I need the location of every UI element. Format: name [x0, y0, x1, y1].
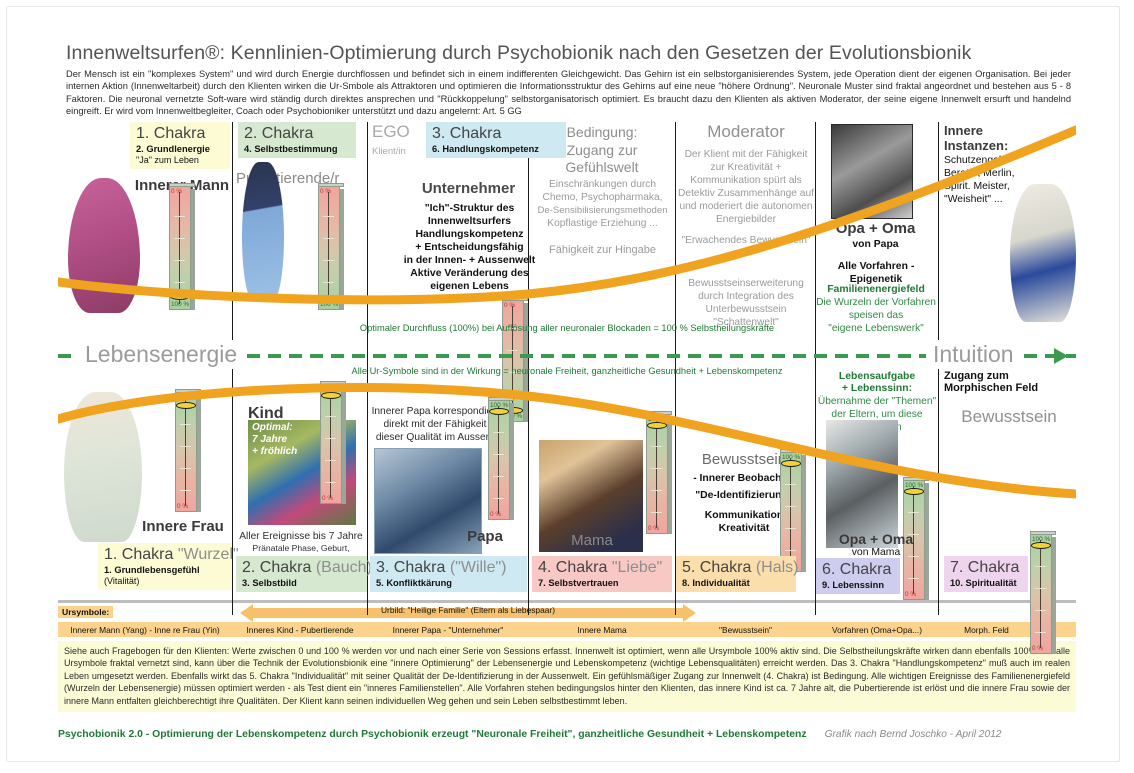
bottom-col3-lines: Innerer Papa korrespondiert direkt mit d…	[370, 405, 500, 444]
line: De-Sensibilisierungsmethoden	[530, 204, 675, 217]
bottom-chakra6-sub: 9. Lebenssinn	[822, 579, 894, 591]
gauge-tick	[325, 438, 336, 439]
gauge-tick	[908, 578, 919, 579]
gauge-body	[320, 384, 342, 504]
gauge-tick	[1035, 588, 1046, 589]
footer-bar: Psychobionik 2.0 - Optimierung der Leben…	[58, 724, 1076, 742]
bottom-chakra1-quote: "Wurzel"	[178, 546, 239, 563]
gauge-tick	[493, 432, 504, 433]
top-chakra1-title: 1. Chakra	[136, 124, 224, 143]
bottom-chakra6-plate: 6. Chakra 9. Lebenssinn	[816, 558, 900, 594]
bottom-col7-gauge: 100 % 0 %	[1030, 534, 1056, 654]
gauge-tick	[785, 528, 796, 529]
gauge-marker-ring[interactable]	[781, 460, 801, 467]
bottom-chakra2-title: 2. Chakra (Bauch)	[242, 558, 361, 577]
gauge-tick	[908, 512, 919, 513]
band-caption-top: Optimaler Durchfluss (100%) bei Auflösun…	[360, 323, 774, 333]
urbild-label: Urbild: "Heilige Familie" (Eltern als Li…	[253, 605, 683, 615]
top-col4-closing: Fähigkeit zur Hingabe	[530, 244, 675, 257]
bottom-col1-figure-label: Innere Frau	[128, 518, 238, 536]
gauge-tick	[325, 460, 336, 461]
gauge-marker-ring[interactable]	[321, 392, 341, 399]
gauge-tick	[323, 260, 334, 261]
bottom-col4-gauge: 100 % 0 %	[646, 414, 672, 534]
top-col7-titles: Innere Instanzen:	[944, 123, 1064, 153]
angel-photo	[1010, 184, 1076, 322]
top-col1-gauge-top-label: 0 %	[171, 188, 182, 195]
bottom-col1-gauge-bottom-label: 0 %	[177, 503, 188, 510]
line: Berater, Merlin,	[944, 167, 1068, 180]
ego-text: EGO	[372, 122, 410, 141]
intro-paragraph: Der Mensch ist ein "komplexes System" un…	[66, 68, 1071, 117]
top-col6-green-title: Familienenergiefeld	[816, 283, 936, 296]
top-col7-title1: Innere	[944, 123, 1064, 138]
bottom-chakra1-sub: 1. Grundlebensgefühl	[104, 564, 226, 576]
overlay-line: + fröhlich	[252, 446, 318, 458]
gauge-shade	[340, 189, 344, 310]
top-col4-heading: Bedingung:	[532, 124, 672, 141]
footer-right-credit: Grafik nach Bernd Joschko - April 2012	[825, 729, 1002, 740]
opa-oma-mama-photo	[826, 420, 898, 548]
strip-divider-6	[938, 584, 939, 615]
bottom-col3-gauge: 100 % 0 %	[488, 400, 514, 520]
gauge-body	[780, 452, 802, 572]
line: durch Integration des	[676, 290, 816, 303]
top-col7-title2: Instanzen:	[944, 138, 1064, 153]
line: Energiebilder	[676, 213, 816, 226]
ego-label: EGO Klient/in	[372, 122, 410, 161]
gauge-tick	[651, 468, 662, 469]
gauge-marker-ring[interactable]	[904, 488, 924, 495]
strip-divider-4	[675, 584, 676, 615]
top-col5-lines: Der Klient mit der Fähigkeit zur Kreativ…	[676, 148, 816, 226]
gauge-tick	[1035, 632, 1046, 633]
line: Aktive Veränderung des	[372, 267, 567, 280]
ursymbole-cell: Morph. Feld	[939, 622, 1034, 637]
ursymbole-cell: Innere Mama	[529, 622, 675, 637]
bottom-col6-green-title2: + Lebenssinn:	[818, 382, 936, 395]
gauge-tick	[325, 482, 336, 483]
gauge-shade	[191, 189, 195, 310]
line: Unterbewusstsein	[676, 303, 816, 316]
bottom-chakra5-sub: 8. Individualität	[682, 577, 790, 589]
gauge-shade	[342, 387, 346, 504]
bottom-col5-gauge: 100 % 0 %	[780, 452, 806, 572]
gauge-shade	[1052, 537, 1056, 654]
line: Schutzengel,	[944, 154, 1068, 167]
gauge-stem	[179, 192, 180, 304]
bottom-col2-gauge-bottom-label: 0 %	[322, 495, 333, 502]
bottom-chakra7-sub: 10. Spiritualität	[950, 577, 1022, 589]
gauge-tick	[785, 550, 796, 551]
gauge-marker-ring[interactable]	[170, 293, 190, 300]
bottom-col2-line1: Aller Ereignisse bis 7 Jahre	[236, 530, 366, 543]
top-col3-gauge-top-label: 0 %	[504, 302, 515, 309]
pubertierende-photo	[242, 162, 284, 300]
gauge-tick	[325, 416, 336, 417]
page-title: Innenweltsurfen®: Kennlinien-Optimierung…	[66, 42, 1076, 65]
gauge-body	[175, 392, 197, 512]
gauge-shade	[668, 417, 672, 534]
strip-divider-3	[528, 584, 529, 615]
gauge-tick	[1035, 566, 1046, 567]
gauge-shade	[197, 395, 201, 512]
bottom-col7-line2: Morphischen Feld	[944, 382, 1074, 395]
gauge-tick	[180, 490, 191, 491]
bottom-col3-figure-label: Papa	[450, 528, 520, 546]
gauge-tick	[651, 512, 662, 513]
bottom-col4-figure-label: Mama	[544, 532, 640, 550]
gauge-tick	[180, 424, 191, 425]
gauge-tick	[174, 282, 185, 283]
bottom-chakra5-title: 5. Chakra (Hals)	[682, 558, 790, 577]
bottom-chakra1-plate: 1. Chakra "Wurzel" 1. Grundlebensgefühl …	[98, 543, 232, 590]
gauge-tick	[174, 216, 185, 217]
bottom-chakra3-plate: 3. Chakra ("Wille") 5. Konfliktkärung	[370, 556, 527, 592]
top-chakra1-plate: 1. Chakra 2. Grundlenergie "Ja" zum Lebe…	[130, 122, 230, 169]
energy-arrow-icon	[1054, 348, 1068, 364]
line: Die Wurzeln der Vorfahren	[815, 296, 937, 309]
ursymbole-cell: Innerer Papa - "Unternehmer"	[368, 622, 528, 637]
top-col4-heading2: Zugang zur Gefühlswelt	[530, 142, 674, 176]
top-col1-gauge: 0 % 100 %	[169, 186, 195, 310]
top-col2-gauge-top-label: 0 %	[320, 188, 331, 195]
band-caption-bottom: Alle Ur-Symbole sind in der Wirkung = ne…	[352, 366, 783, 376]
bottom-chakra3-title: 3. Chakra ("Wille")	[376, 558, 521, 577]
gauge-tick	[174, 238, 185, 239]
gauge-tick	[323, 282, 334, 283]
line: dieser Qualität im Aussen!	[370, 431, 500, 444]
bottom-col1-gauge: 100 % 0 %	[175, 392, 201, 512]
gauge-tick	[323, 238, 334, 239]
top-col2-gauge-bottom-label: 100 %	[320, 301, 338, 308]
gauge-shade	[802, 455, 806, 572]
ursymbole-cell: Innerer Mann (Yang) - Inne re Frau (Yin)	[58, 622, 232, 637]
top-col2-gauge: 0 % 100 %	[318, 186, 344, 310]
bottom-chakra1-sub2: (Vitalität)	[104, 576, 226, 587]
bottom-col3-gauge-bottom-label: 0 %	[490, 511, 501, 518]
bottom-col7-heading: Bewusstsein	[942, 407, 1076, 426]
gauge-tick	[180, 446, 191, 447]
gauge-tick	[493, 476, 504, 477]
bottom-chakra4-plate: 4. Chakra "Liebe" 7. Selbstvertrauen	[532, 556, 672, 592]
gauge-marker-ring[interactable]	[647, 422, 667, 429]
line: Innerer Papa korrespondiert	[370, 405, 500, 418]
inner-man-photo	[68, 178, 140, 313]
gauge-tick	[180, 468, 191, 469]
bottom-col2-overlay: Optimal: 7 Jahre + fröhlich	[252, 422, 318, 458]
bottom-col2-gauge: 100 % 0 %	[320, 384, 346, 504]
gauge-marker-ring[interactable]	[489, 408, 509, 415]
top-chakra2-sub: 4. Selbstbestimmung	[244, 143, 350, 155]
gauge-body	[169, 186, 191, 310]
overlay-line: 7 Jahre	[252, 434, 318, 446]
gauge-tick	[174, 260, 185, 261]
bottom-chakra7-plate: 7. Chakra 10. Spiritualität	[944, 556, 1028, 592]
top-col6-photo-sub: von Papa	[818, 238, 933, 251]
top-chakra2-title: 2. Chakra	[244, 124, 350, 143]
gauge-body	[488, 400, 510, 520]
line: Übernahme der "Themen"	[816, 395, 938, 408]
ursymbole-cell: Vorfahren (Oma+Opa...)	[816, 622, 938, 637]
top-chakra2-plate: 2. Chakra 4. Selbstbestimmung	[238, 122, 356, 158]
line: zur Kreativität +	[676, 161, 816, 174]
bottom-chakra6-title: 6. Chakra	[822, 560, 894, 579]
strip-divider-1	[232, 584, 233, 615]
gauge-tick	[493, 454, 504, 455]
ursymbole-strip: Ursymbole: Urbild: "Heilige Familie" (El…	[58, 600, 1076, 638]
top-col4-lines: Einschränkungen durch Chemo, Psychopharm…	[530, 178, 675, 230]
top-col6-photo-label: Opa + Oma	[818, 220, 933, 238]
gauge-body	[1030, 534, 1052, 654]
gauge-tick	[651, 446, 662, 447]
bottom-col4-gauge-bottom-label: 0 %	[648, 525, 659, 532]
gauge-tick	[785, 484, 796, 485]
line: und moderiert die autonomen	[676, 200, 816, 213]
gauge-body	[318, 186, 340, 310]
footer-note: Siehe auch Fragebogen für den Klienten: …	[58, 641, 1076, 712]
bottom-chakra2-plate: 2. Chakra (Bauch) 3. Selbstbild	[236, 556, 367, 592]
gauge-marker-ring[interactable]	[176, 402, 196, 409]
top-col5-lines2: Bewusstseinserweiterung durch Integratio…	[676, 277, 816, 329]
ursymbole-cell: "Bewusstsein"	[676, 622, 815, 637]
bottom-chakra4-sub: 7. Selbstvertrauen	[538, 577, 666, 589]
gauge-tick	[323, 216, 334, 217]
line: Bewusstseinserweiterung	[676, 277, 816, 290]
gauge-marker-ring[interactable]	[319, 295, 339, 302]
intuition-label: Intuition	[926, 340, 1021, 369]
bottom-chakra5-quote: (Hals)	[756, 559, 799, 576]
top-chakra1-sub2: "Ja" zum Leben	[136, 155, 224, 166]
line: Chemo, Psychopharmaka,	[530, 191, 675, 204]
bottom-chakra1-title: 1. Chakra "Wurzel"	[104, 545, 226, 564]
gauge-tick	[651, 490, 662, 491]
gauge-tick	[785, 506, 796, 507]
top-col5-quote: "Erwachendes Bewusstsein"	[676, 234, 816, 247]
line: Einschränkungen durch	[530, 178, 675, 191]
ego-sub: Klient/in	[372, 142, 410, 161]
top-col1-gauge-bottom-label: 100 %	[171, 301, 189, 308]
ursymbole-tag: Ursymbole:	[58, 606, 113, 618]
top-col6-green-lines: Die Wurzeln der Vorfahren speisen das "e…	[815, 296, 937, 335]
top-col5-heading: Moderator	[678, 122, 814, 141]
opa-oma-papa-photo	[831, 124, 913, 219]
gauge-marker-ring[interactable]	[1031, 542, 1051, 549]
bottom-chakra5-plate: 5. Chakra (Hals) 8. Individualität	[676, 556, 796, 592]
bottom-chakra3-sub: 5. Konfliktkärung	[376, 577, 521, 589]
energy-band: Lebensenergie Intuition Optimaler Durchf…	[58, 333, 1076, 378]
bottom-chakra4-title: 4. Chakra "Liebe"	[538, 558, 666, 577]
strip-top-rule	[58, 600, 1076, 603]
gauge-shade	[510, 403, 514, 520]
gauge-tick	[493, 498, 504, 499]
diagram-page: Innenweltsurfen®: Kennlinien-Optimierung…	[0, 0, 1134, 773]
line: Detektiv Zusammenhänge auf	[676, 187, 816, 200]
bottom-col1-gauge-top-label: 100 %	[177, 394, 195, 401]
line: speisen das	[815, 309, 937, 322]
gauge-body	[646, 414, 668, 534]
gauge-tick	[507, 394, 518, 395]
bottom-col7-gauge-bottom-label: 0 %	[1032, 645, 1043, 652]
line: direkt mit der Fähigkeit	[370, 418, 500, 431]
line: eigenen Lebens	[372, 280, 567, 293]
bottom-chakra7-title: 7. Chakra	[950, 558, 1022, 577]
bottom-col6-gauge-bottom-label: 0 %	[905, 591, 916, 598]
strip-divider-5	[815, 584, 816, 615]
bottom-chakra3-quote: ("Wille")	[450, 559, 507, 576]
lebensenergie-label: Lebensenergie	[78, 340, 244, 369]
line: Kopflastige Erziehung ...	[530, 217, 675, 230]
bottom-chakra2-sub: 3. Selbstbild	[242, 577, 361, 589]
gauge-stem	[328, 192, 329, 304]
gauge-tick	[1035, 610, 1046, 611]
overlay-line: Optimal:	[252, 422, 318, 434]
ursymbole-cell: Inneres Kind - Pubertierende	[233, 622, 367, 637]
footer-left-text: Psychobionik 2.0 - Optimierung der Leben…	[58, 729, 807, 740]
bottom-chakra2-quote: (Bauch)	[316, 559, 372, 576]
top-chakra1-sub: 2. Grundlenergie	[136, 143, 224, 155]
bottom-chakra4-quote: "Liebe"	[612, 559, 663, 576]
strip-divider-2	[367, 584, 368, 615]
line: Kommunikation spürt als	[676, 174, 816, 187]
line: Der Klient mit der Fähigkeit	[676, 148, 816, 161]
